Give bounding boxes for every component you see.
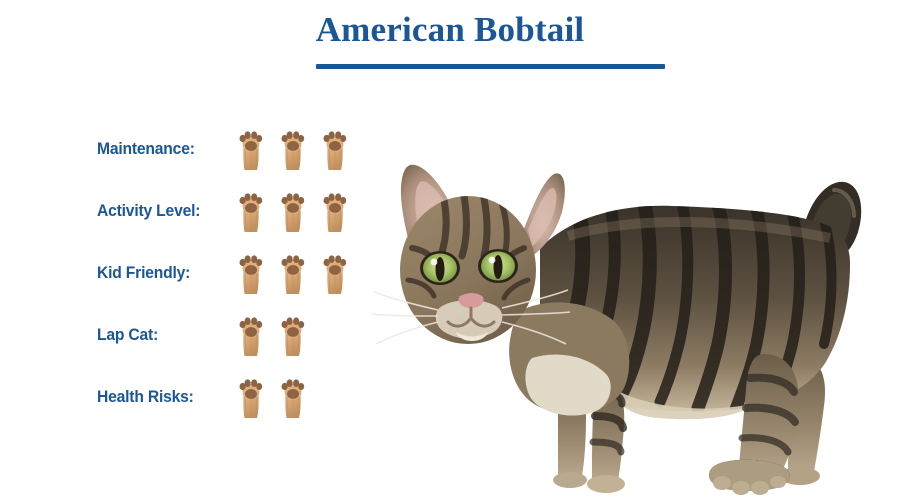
cat-paw-icon — [320, 189, 350, 233]
rating-paws-kid-friendly — [236, 242, 350, 304]
rating-label: Maintenance: — [97, 118, 212, 180]
cat-paw-icon — [278, 375, 308, 419]
cat-chest — [509, 302, 629, 415]
rating-paws-maintenance — [236, 118, 350, 180]
cat-paw-icon — [278, 127, 308, 171]
cat-paw-icon — [320, 127, 350, 171]
rating-paws-health-risks — [236, 366, 308, 428]
title-underline-rule — [316, 64, 665, 69]
cat-paw-icon — [320, 251, 350, 295]
rating-label: Activity Level: — [97, 180, 212, 242]
rating-row-health-risks: Health Risks: — [0, 366, 370, 428]
rating-label: Lap Cat: — [97, 304, 212, 366]
rating-row-kid-friendly: Kid Friendly: — [0, 242, 370, 304]
american-bobtail-cat-photo — [372, 120, 900, 498]
cat-paw-icon — [236, 313, 266, 357]
cat-eye-right — [478, 249, 518, 283]
page-title: American Bobtail — [0, 8, 900, 52]
cat-paw-icon — [236, 189, 266, 233]
ratings-list: Maintenance: — [0, 118, 370, 428]
cat-paw-icon — [236, 251, 266, 295]
cat-eye-left — [420, 251, 460, 285]
rating-label: Health Risks: — [97, 366, 212, 428]
rating-row-lap-cat: Lap Cat: — [0, 304, 370, 366]
rating-row-activity-level: Activity Level: — [0, 180, 370, 242]
rating-paws-activity-level — [236, 180, 350, 242]
breed-profile-card: American Bobtail Maintenance: — [0, 0, 900, 498]
cat-paw-icon — [278, 313, 308, 357]
rating-paws-lap-cat — [236, 304, 308, 366]
title-block: American Bobtail — [0, 8, 900, 52]
cat-paw-icon — [236, 375, 266, 419]
cat-paw-icon — [236, 127, 266, 171]
rating-label: Kid Friendly: — [97, 242, 212, 304]
cat-paw-icon — [278, 189, 308, 233]
rating-row-maintenance: Maintenance: — [0, 118, 370, 180]
cat-paw-icon — [278, 251, 308, 295]
